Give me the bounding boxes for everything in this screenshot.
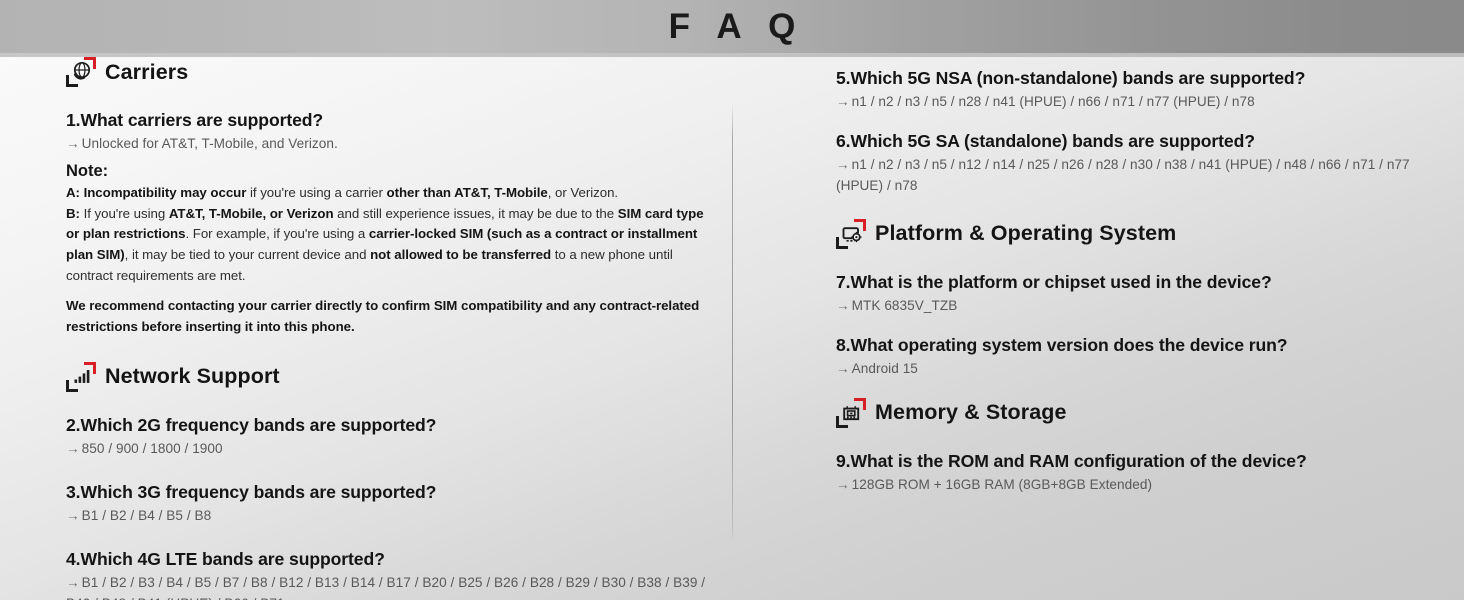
answer-3-text: B1 / B2 / B4 / B5 / B8	[82, 508, 212, 523]
note-label: Note:	[66, 161, 711, 182]
note-a-text-4: , or Verizon.	[548, 185, 618, 200]
note-b-bold-1: B:	[66, 206, 80, 221]
note-line-a: A: Incompatibility may occur if you're u…	[66, 183, 711, 204]
note-a-bold-1: A: Incompatibility may occur	[66, 185, 246, 200]
note-b-text-6: . For example, if you're using a	[185, 226, 368, 241]
answer-4: →B1 / B2 / B3 / B4 / B5 / B7 / B8 / B12 …	[66, 572, 711, 600]
answer-1: →Unlocked for AT&T, T-Mobile, and Verizo…	[66, 133, 711, 154]
note-a-bold-3: other than AT&T, T-Mobile	[387, 185, 548, 200]
note-line-b: B: If you're using AT&T, T-Mobile, or Ve…	[66, 204, 711, 288]
answer-1-text: Unlocked for AT&T, T-Mobile, and Verizon…	[82, 136, 338, 151]
memory-chip-icon	[836, 398, 866, 428]
question-6: 6.Which 5G SA (standalone) bands are sup…	[836, 130, 1426, 152]
section-title-memory: Memory & Storage	[875, 400, 1067, 425]
answer-8: →Android 15	[836, 358, 1426, 379]
note-b-bold-9: not allowed to be transferred	[370, 247, 551, 262]
left-column: Carriers 1.What carriers are supported? …	[66, 57, 711, 600]
section-network-heading: Network Support	[66, 362, 711, 392]
corner-bracket-top-right	[854, 219, 866, 231]
answer-8-text: Android 15	[852, 361, 918, 376]
note-a-text-2: if you're using a carrier	[246, 185, 386, 200]
section-memory-heading: Memory & Storage	[836, 398, 1426, 428]
corner-bracket-top-right	[84, 362, 96, 374]
arrow-icon: →	[836, 361, 852, 376]
globe-arrow-icon	[66, 57, 96, 87]
content-columns: Carriers 1.What carriers are supported? …	[0, 57, 1464, 600]
section-title-network: Network Support	[105, 364, 280, 389]
answer-2: →850 / 900 / 1800 / 1900	[66, 438, 711, 459]
note-b-text-4: and still experience issues, it may be d…	[334, 206, 618, 221]
question-1: 1.What carriers are supported?	[66, 109, 711, 131]
question-7: 7.What is the platform or chipset used i…	[836, 271, 1426, 293]
question-3: 3.Which 3G frequency bands are supported…	[66, 481, 711, 503]
answer-3: →B1 / B2 / B4 / B5 / B8	[66, 505, 711, 526]
note-b-text-8: , it may be tied to your current device …	[125, 247, 370, 262]
corner-bracket-top-right	[84, 57, 96, 69]
answer-6: →n1 / n2 / n3 / n5 / n12 / n14 / n25 / n…	[836, 154, 1426, 196]
monitor-gear-icon	[836, 219, 866, 249]
section-carriers-heading: Carriers	[66, 57, 711, 87]
corner-bracket-bottom-left	[836, 237, 848, 249]
page-title: F A Q	[660, 9, 805, 44]
answer-4-text: B1 / B2 / B3 / B4 / B5 / B7 / B8 / B12 /…	[66, 575, 705, 600]
section-title-platform: Platform & Operating System	[875, 221, 1176, 246]
question-2: 2.Which 2G frequency bands are supported…	[66, 414, 711, 436]
column-divider	[732, 103, 733, 543]
arrow-icon: →	[836, 94, 852, 109]
note-b-text-2: If you're using	[80, 206, 169, 221]
answer-7-text: MTK 6835V_TZB	[852, 298, 958, 313]
answer-9-text: 128GB ROM + 16GB RAM (8GB+8GB Extended)	[852, 477, 1152, 492]
section-title-carriers: Carriers	[105, 60, 188, 85]
question-8: 8.What operating system version does the…	[836, 334, 1426, 356]
note-b-bold-3: AT&T, T-Mobile, or Verizon	[169, 206, 334, 221]
faq-page: F A Q Carriers	[0, 0, 1464, 600]
corner-bracket-bottom-left	[836, 416, 848, 428]
answer-2-text: 850 / 900 / 1800 / 1900	[82, 441, 223, 456]
answer-7: →MTK 6835V_TZB	[836, 295, 1426, 316]
arrow-icon: →	[836, 157, 852, 172]
arrow-icon: →	[66, 441, 82, 456]
corner-bracket-bottom-left	[66, 75, 78, 87]
arrow-icon: →	[66, 136, 82, 151]
answer-6-text: n1 / n2 / n3 / n5 / n12 / n14 / n25 / n2…	[836, 157, 1410, 193]
answer-9: →128GB ROM + 16GB RAM (8GB+8GB Extended)	[836, 474, 1426, 495]
answer-5: →n1 / n2 / n3 / n5 / n28 / n41 (HPUE) / …	[836, 91, 1426, 112]
corner-bracket-bottom-left	[66, 380, 78, 392]
question-4: 4.Which 4G LTE bands are supported?	[66, 548, 711, 570]
note-recommendation: We recommend contacting your carrier dir…	[66, 296, 711, 338]
question-9: 9.What is the ROM and RAM configuration …	[836, 450, 1426, 472]
answer-5-text: n1 / n2 / n3 / n5 / n28 / n41 (HPUE) / n…	[852, 94, 1255, 109]
right-column: 5.Which 5G NSA (non-standalone) bands ar…	[836, 57, 1426, 495]
arrow-icon: →	[836, 477, 852, 492]
arrow-icon: →	[66, 575, 82, 590]
arrow-icon: →	[66, 508, 82, 523]
signal-bars-icon	[66, 362, 96, 392]
corner-bracket-top-right	[854, 398, 866, 410]
section-platform-heading: Platform & Operating System	[836, 219, 1426, 249]
question-5: 5.Which 5G NSA (non-standalone) bands ar…	[836, 67, 1426, 89]
arrow-icon: →	[836, 298, 852, 313]
page-header: F A Q	[0, 0, 1464, 53]
